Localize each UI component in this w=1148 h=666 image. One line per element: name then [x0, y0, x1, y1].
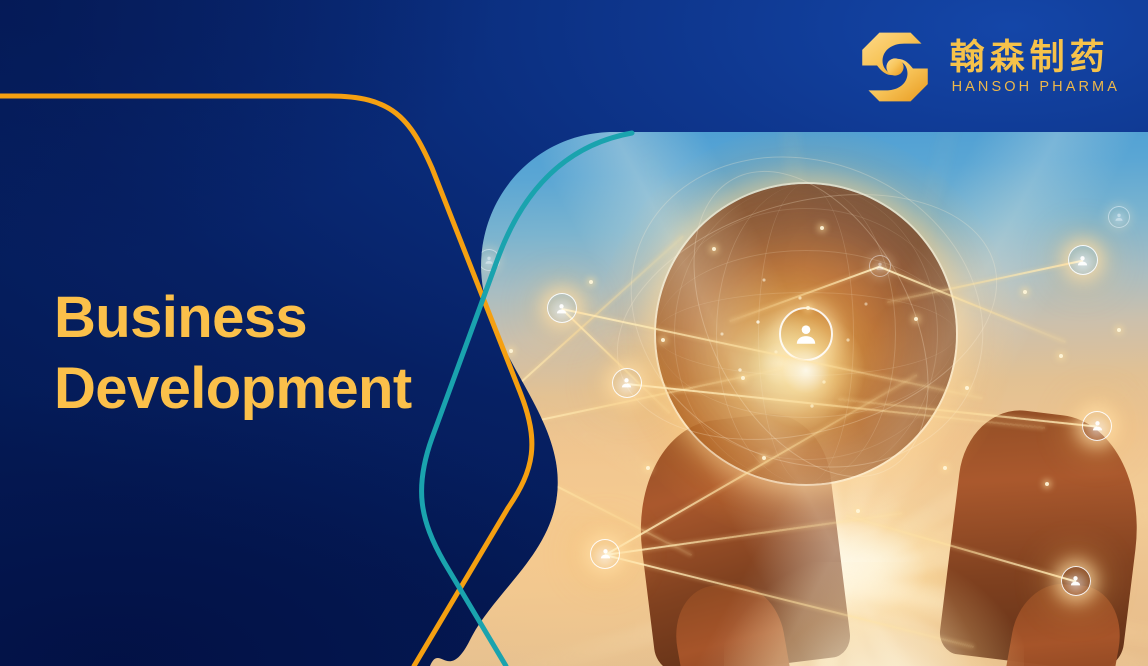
- network-link: [880, 266, 1066, 342]
- network-person-node: [547, 293, 577, 323]
- network-link: [605, 554, 974, 647]
- business-development-banner: Business Development 翰森制药 HANSOH PHARMA: [0, 0, 1148, 666]
- network-spark: [646, 466, 650, 470]
- hansoh-logo[interactable]: 翰森制药 HANSOH PHARMA: [856, 28, 1120, 106]
- logo-wordmark: 翰森制药 HANSOH PHARMA: [950, 38, 1120, 95]
- network-person-node: [1082, 411, 1112, 441]
- network-spark: [943, 466, 947, 470]
- network-spark: [762, 456, 766, 460]
- network-spark: [741, 376, 745, 380]
- network-spark: [1045, 482, 1049, 486]
- network-spark: [914, 317, 918, 321]
- network-spark: [806, 306, 810, 310]
- hero-photo-panel: [424, 132, 1148, 666]
- network-spark: [856, 509, 860, 513]
- network-link: [561, 308, 670, 413]
- network-spark: [509, 349, 513, 353]
- network-person-node: [590, 539, 620, 569]
- logo-english-name: HANSOH PHARMA: [950, 80, 1120, 96]
- network-spark: [1059, 354, 1063, 358]
- network-spark: [1023, 290, 1027, 294]
- network-spark: [589, 280, 593, 284]
- network-person-node: [1108, 206, 1130, 228]
- network-spark: [661, 338, 665, 342]
- network-spark: [712, 247, 716, 251]
- network-overlay: [424, 132, 1148, 666]
- network-person-node: [1068, 245, 1098, 275]
- network-spark: [820, 226, 824, 230]
- logo-chinese-name: 翰森制药: [950, 38, 1110, 78]
- network-person-node: [1061, 566, 1091, 596]
- page-title: Business Development: [54, 283, 412, 425]
- network-link: [845, 514, 1076, 582]
- network-link: [729, 266, 880, 322]
- hansoh-hexagon-swirl-logo-icon: [856, 28, 934, 106]
- network-person-node: [869, 255, 891, 277]
- network-person-node: [612, 368, 642, 398]
- network-spark: [965, 386, 969, 390]
- network-link: [839, 399, 1098, 428]
- network-spark: [1117, 328, 1121, 332]
